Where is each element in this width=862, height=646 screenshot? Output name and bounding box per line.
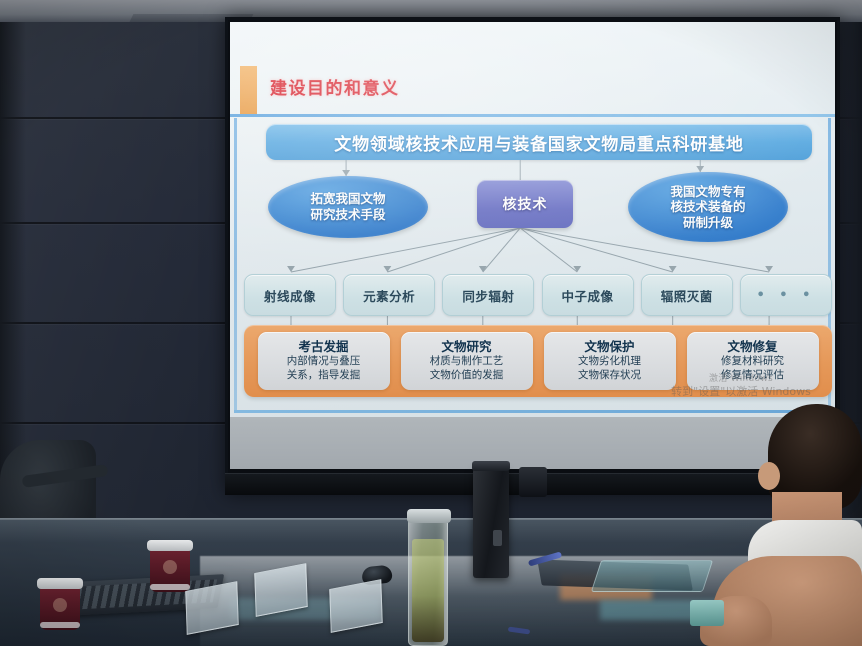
application-card: 文物研究 材质与制作工艺 文物价值的发掘 <box>401 332 533 390</box>
core-technology-label: 核技术 <box>503 194 548 214</box>
title-accent-bar <box>240 66 257 114</box>
paper-cup <box>150 540 190 592</box>
core-technology-node: 核技术 <box>477 180 573 228</box>
technique-box: 辐照灭菌 <box>641 274 733 316</box>
watermark-line-2: 转到"设置"以激活 Windows <box>661 385 821 399</box>
technique-box-ellipsis: • • • <box>740 274 832 316</box>
application-title: 文物保护 <box>584 340 634 354</box>
application-line1: 文物劣化机理 <box>578 355 641 368</box>
windows-activation-watermark: 激活 Windows 转到"设置"以激活 Windows <box>661 374 821 399</box>
attendee-ear <box>758 462 780 490</box>
cup-band <box>40 622 80 628</box>
thermos-cap <box>472 461 510 471</box>
goal-node-left-label: 拓宽我国文物研究技术手段 <box>310 191 385 222</box>
technique-row: 射线成像 元素分析 同步辐射 中子成像 辐照灭菌 • • • <box>244 274 832 316</box>
goal-node-left: 拓宽我国文物研究技术手段 <box>268 176 428 238</box>
technique-label: 中子成像 <box>562 286 614 305</box>
technique-box: 中子成像 <box>542 274 634 316</box>
tea-bottle-cap <box>407 509 451 523</box>
technique-label: 元素分析 <box>363 286 415 305</box>
cup-logo <box>163 560 177 574</box>
application-line2: 文物保存状况 <box>578 369 641 382</box>
application-card: 考古发掘 内部情况与叠压 关系，指导发掘 <box>258 332 390 390</box>
application-line1: 材质与制作工艺 <box>430 355 504 368</box>
technique-box: 元素分析 <box>343 274 435 316</box>
application-line1: 修复材料研究 <box>721 355 784 368</box>
technique-label: • • • <box>756 288 815 303</box>
application-line2: 关系，指导发掘 <box>287 369 361 382</box>
slide-title-band: 建设目的和意义 <box>230 70 835 112</box>
diagram-header-box: 文物领域核技术应用与装备国家文物局重点科研基地 <box>266 124 812 160</box>
cup-logo <box>53 598 67 612</box>
cup-band <box>150 584 190 590</box>
presentation-slide: 建设目的和意义 文物领域核技术应用与装备国家文物局重点科研基地 <box>230 22 835 417</box>
goal-node-right: 我国文物专有核技术装备的研制升级 <box>628 172 788 242</box>
tea-liquid <box>412 539 444 642</box>
screen-unused-area <box>230 417 835 469</box>
goal-node-right-label: 我国文物专有核技术装备的研制升级 <box>670 184 745 231</box>
screen-roller-weight <box>519 467 547 497</box>
application-line1: 内部情况与叠压 <box>287 355 361 368</box>
slide-border-left <box>234 118 237 412</box>
tablet-device <box>591 560 713 592</box>
technique-label: 射线成像 <box>264 286 316 305</box>
technique-label: 同步辐射 <box>462 286 514 305</box>
name-placard-text <box>330 580 381 631</box>
name-placard-text <box>186 582 237 633</box>
application-title: 考古发掘 <box>298 340 348 354</box>
application-title: 文物研究 <box>441 340 491 354</box>
title-underline <box>230 114 835 117</box>
application-title: 文物修复 <box>727 340 777 354</box>
cup-lid <box>147 540 193 551</box>
technique-box: 射线成像 <box>244 274 336 316</box>
tea-bottle <box>408 516 448 646</box>
thermos-button <box>493 530 502 546</box>
conference-room-scene: 建设目的和意义 文物领域核技术应用与装备国家文物局重点科研基地 <box>0 0 862 646</box>
application-line2: 文物价值的发掘 <box>430 369 504 382</box>
screen-surface: 建设目的和意义 文物领域核技术应用与装备国家文物局重点科研基地 <box>230 22 835 469</box>
application-card: 文物保护 文物劣化机理 文物保存状况 <box>544 332 676 390</box>
diagram-header-label: 文物领域核技术应用与装备国家文物局重点科研基地 <box>334 130 743 155</box>
projection-screen: 建设目的和意义 文物领域核技术应用与装备国家文物局重点科研基地 <box>225 17 840 495</box>
slide-title: 建设目的和意义 <box>270 74 400 99</box>
attendee-phone <box>690 600 724 626</box>
technique-box: 同步辐射 <box>442 274 534 316</box>
technique-label: 辐照灭菌 <box>661 286 713 305</box>
cup-lid <box>37 578 83 589</box>
name-placard-text <box>255 564 306 615</box>
watermark-line-1: 激活 Windows <box>661 374 821 385</box>
slide-border-bottom <box>234 410 831 413</box>
thermos-flask <box>473 468 509 578</box>
paper-cup <box>40 578 80 630</box>
